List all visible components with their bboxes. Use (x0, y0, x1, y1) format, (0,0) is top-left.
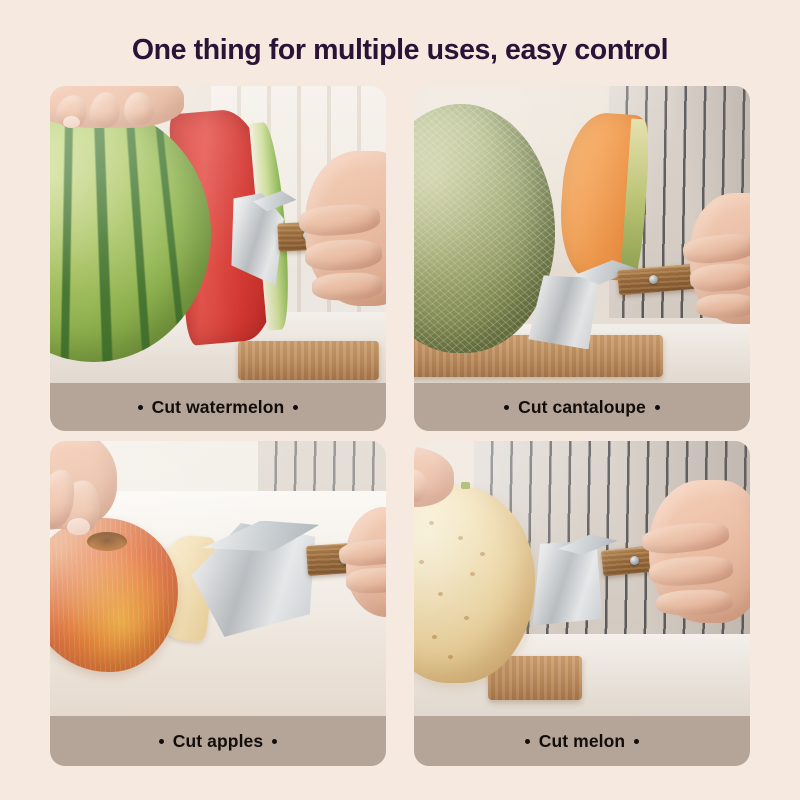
bullet-right-icon (655, 405, 660, 410)
feature-card-grid: Cut watermelon (50, 86, 750, 766)
caption-label: Cut melon (539, 731, 625, 752)
product-feature-poster: One thing for multiple uses, easy contro… (0, 0, 800, 800)
caption-label: Cut cantaloupe (518, 397, 646, 418)
caption-cut-apples: Cut apples (50, 716, 386, 766)
cutting-board (238, 341, 379, 380)
bullet-right-icon (272, 739, 277, 744)
slicer-blade (528, 540, 602, 625)
bullet-left-icon (504, 405, 509, 410)
photo-cut-watermelon (50, 86, 386, 383)
page-title: One thing for multiple uses, easy contro… (0, 34, 800, 67)
apple-stem-well (87, 532, 127, 551)
bullet-right-icon (634, 739, 639, 744)
photo-cut-melon (414, 441, 750, 716)
feature-card-cut-melon[interactable]: Cut melon (414, 441, 750, 766)
caption-cut-cantaloupe: Cut cantaloupe (414, 383, 750, 431)
caption-cut-watermelon: Cut watermelon (50, 383, 386, 431)
photo-cut-cantaloupe (414, 86, 750, 383)
photo-cut-apples (50, 441, 386, 716)
hami-melon (414, 485, 535, 683)
melon-stem (461, 482, 470, 489)
feature-card-cut-cantaloupe[interactable]: Cut cantaloupe (414, 86, 750, 431)
feature-card-cut-apples[interactable]: Cut apples (50, 441, 386, 766)
bullet-left-icon (525, 739, 530, 744)
caption-cut-melon: Cut melon (414, 716, 750, 766)
caption-label: Cut watermelon (152, 397, 285, 418)
handle-rivet (630, 556, 639, 565)
melon-speckles (414, 485, 535, 683)
feature-card-cut-watermelon[interactable]: Cut watermelon (50, 86, 386, 431)
bullet-right-icon (293, 405, 298, 410)
caption-label: Cut apples (173, 731, 263, 752)
slicer-blade (528, 275, 598, 349)
bullet-left-icon (159, 739, 164, 744)
bullet-left-icon (138, 405, 143, 410)
